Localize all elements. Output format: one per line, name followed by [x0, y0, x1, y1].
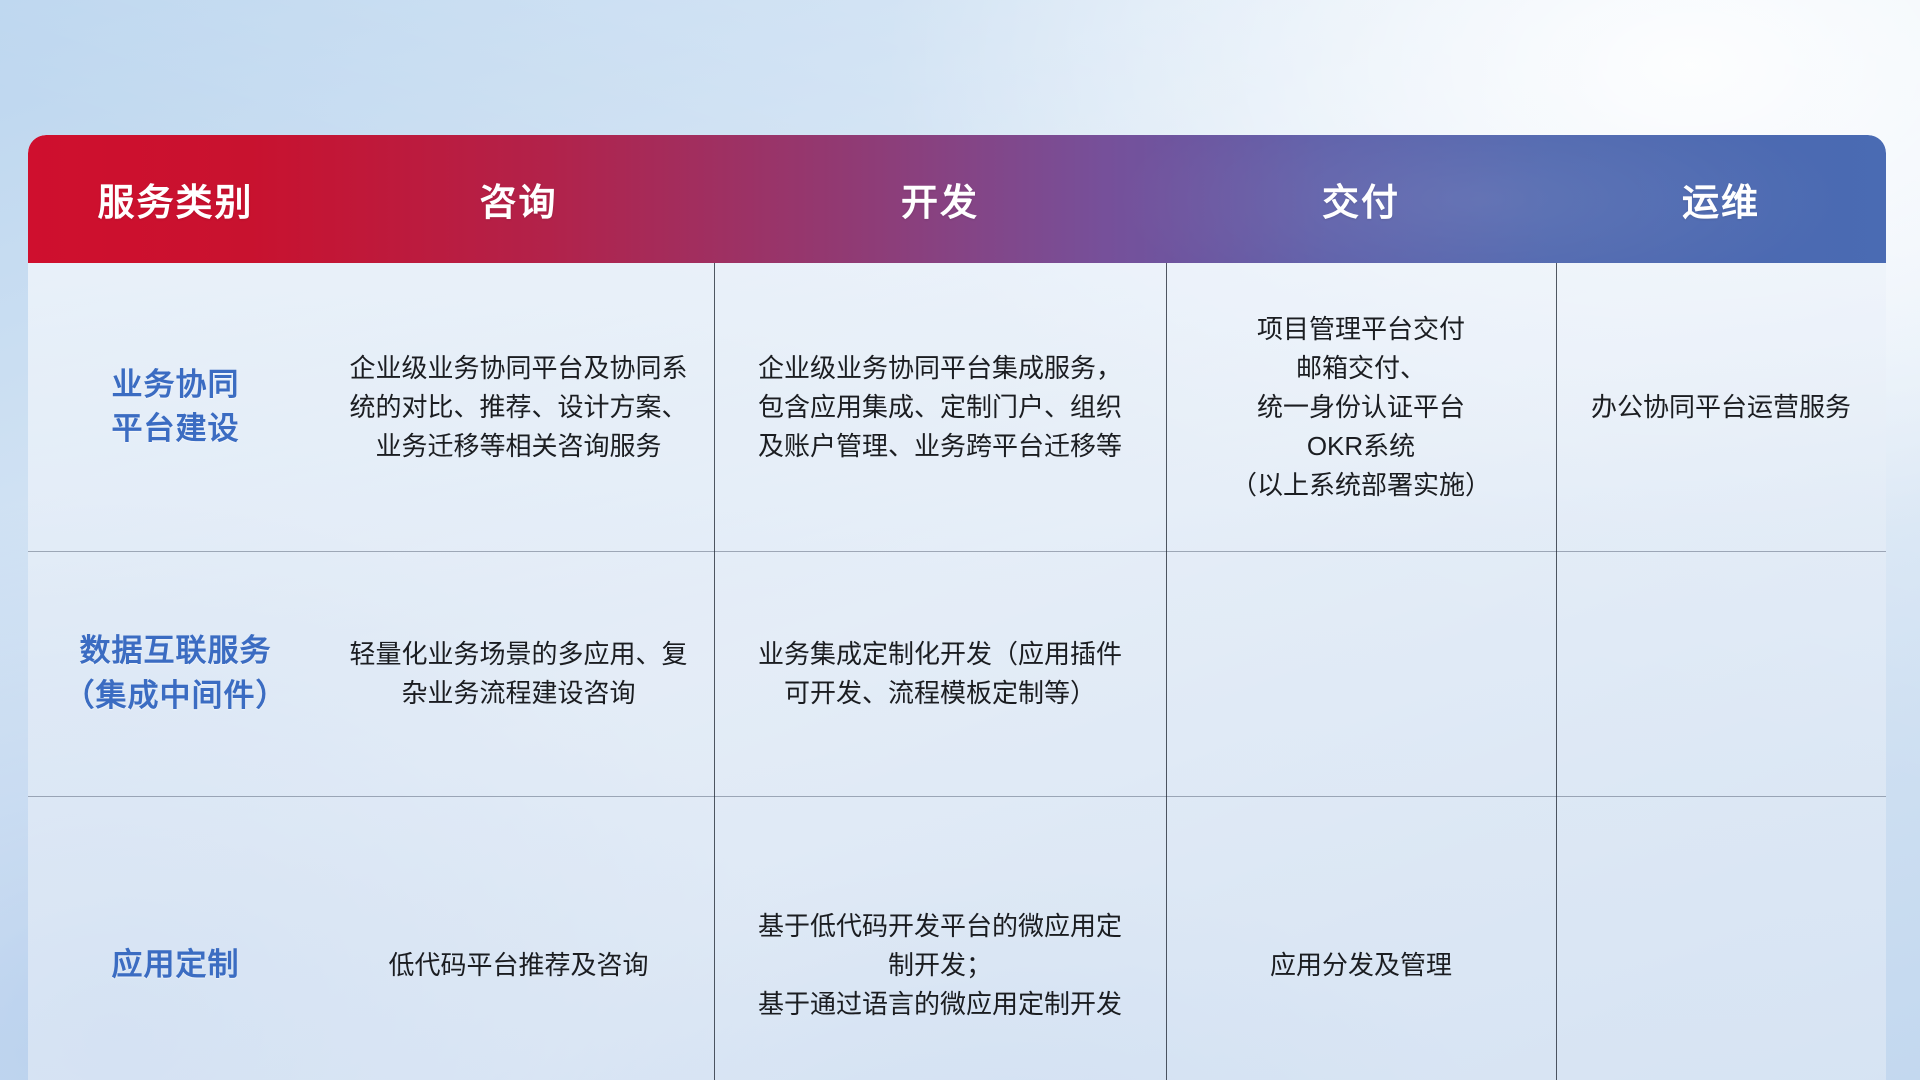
cell-deliver [1166, 551, 1556, 796]
column-header-category: 服务类别 [28, 172, 323, 226]
cell-consult: 企业级业务协同平台及协同系 统的对比、推荐、设计方案、 业务迁移等相关咨询服务 [323, 263, 714, 551]
column-divider [1556, 263, 1557, 1080]
row-category-label: 应用定制 [28, 796, 323, 1080]
table-row: 业务协同 平台建设 企业级业务协同平台及协同系 统的对比、推荐、设计方案、 业务… [28, 263, 1886, 551]
table-header-row: 服务类别 咨询 开发 交付 运维 [28, 135, 1886, 263]
table-body: 业务协同 平台建设 企业级业务协同平台及协同系 统的对比、推荐、设计方案、 业务… [28, 263, 1886, 1080]
cell-develop: 基于低代码开发平台的微应用定 制开发； 基于通过语言的微应用定制开发 [714, 796, 1166, 1080]
cell-develop: 企业级业务协同平台集成服务， 包含应用集成、定制门户、组织 及账户管理、业务跨平… [714, 263, 1166, 551]
cell-operate [1556, 796, 1886, 1080]
table-row: 数据互联服务 （集成中间件） 轻量化业务场景的多应用、复 杂业务流程建设咨询 业… [28, 551, 1886, 796]
cell-consult: 轻量化业务场景的多应用、复 杂业务流程建设咨询 [323, 551, 714, 796]
column-divider [1166, 263, 1167, 1080]
service-matrix-table: 服务类别 咨询 开发 交付 运维 业务协同 平台建设 企业级业务协同平台及协同系… [28, 135, 1886, 1080]
column-header-consult: 咨询 [323, 172, 714, 226]
row-category-label: 业务协同 平台建设 [28, 263, 323, 551]
column-header-deliver: 交付 [1166, 172, 1556, 226]
cell-develop: 业务集成定制化开发（应用插件 可开发、流程模板定制等） [714, 551, 1166, 796]
cell-operate [1556, 551, 1886, 796]
column-header-develop: 开发 [714, 172, 1166, 226]
page-background: 服务类别 咨询 开发 交付 运维 业务协同 平台建设 企业级业务协同平台及协同系… [0, 0, 1920, 1080]
row-category-label: 数据互联服务 （集成中间件） [28, 551, 323, 796]
cell-deliver: 项目管理平台交付 邮箱交付、 统一身份认证平台 OKR系统 （以上系统部署实施） [1166, 263, 1556, 551]
column-divider [714, 263, 715, 1080]
cell-consult: 低代码平台推荐及咨询 [323, 796, 714, 1080]
table-row: 应用定制 低代码平台推荐及咨询 基于低代码开发平台的微应用定 制开发； 基于通过… [28, 796, 1886, 1080]
cell-deliver: 应用分发及管理 [1166, 796, 1556, 1080]
column-header-operate: 运维 [1556, 172, 1886, 226]
cell-operate: 办公协同平台运营服务 [1556, 263, 1886, 551]
